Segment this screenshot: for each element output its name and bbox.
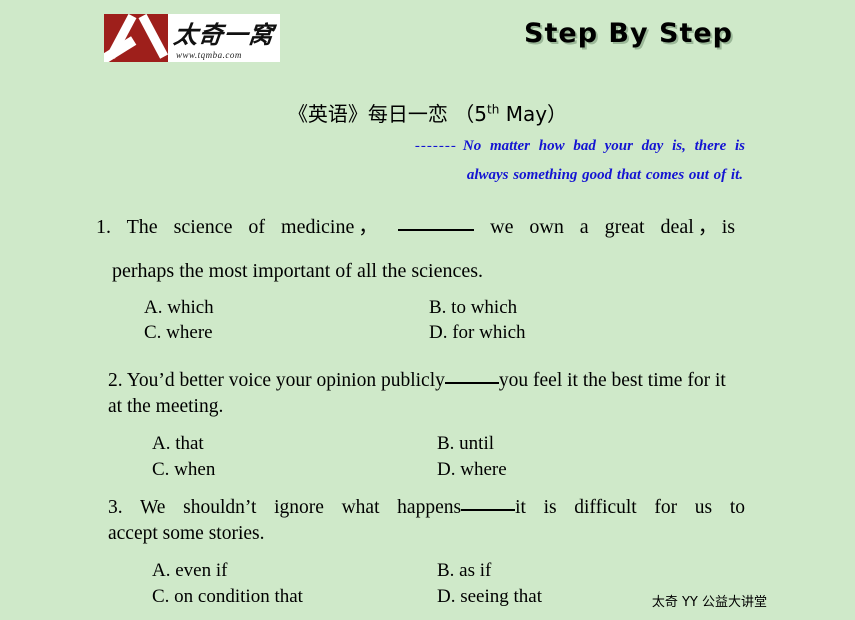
question-2-option-c[interactable]: C. when (152, 457, 437, 482)
question-3-option-a[interactable]: A. even if (152, 558, 437, 583)
quote-text-1: No matter how bad your day is, there is (463, 138, 745, 154)
question-3-blank[interactable] (461, 509, 515, 511)
question-2-stem: 2. You’d better voice your opinion publi… (0, 368, 855, 419)
brand-logo: 太奇一窝 www.tqmba.com (104, 14, 280, 62)
question-1-option-c[interactable]: C. where (144, 320, 429, 345)
title-suffix: May） (499, 102, 567, 126)
footer-credit: 太奇 YY 公益大讲堂 (652, 591, 767, 610)
question-2-option-a[interactable]: A. that (152, 431, 437, 456)
logo-chinese-name: 太奇一窝 (172, 15, 276, 50)
question-1-number: 1. (96, 216, 111, 238)
logo-text-block: 太奇一窝 www.tqmba.com (168, 14, 280, 62)
question-3-stem-line-1: 3. We shouldn’t ignore what happensit is… (108, 495, 745, 521)
question-3-stem: 3. We shouldn’t ignore what happensit is… (0, 495, 855, 546)
question-1-blank[interactable] (398, 229, 474, 231)
question-3-stem-line-2: accept some stories. (108, 523, 265, 544)
question-1-option-d[interactable]: D. for which (429, 320, 855, 345)
question-3-option-b[interactable]: B. as if (437, 558, 855, 583)
question-1-stem-part-2: we own a great deal，is (490, 216, 735, 238)
question-2-blank[interactable] (445, 382, 499, 384)
title-ordinal-superscript: th (487, 102, 499, 116)
page-title: 《英语》每日一恋 （5th May） (0, 98, 855, 127)
question-1-option-a[interactable]: A. which (144, 295, 429, 320)
question-2-stem-before: 2. You’d better voice your opinion publi… (108, 370, 445, 391)
banner-title: Step By Step (524, 18, 733, 49)
quote-line-1: -------No matter how bad your day is, th… (0, 138, 855, 155)
question-1-options: A. which B. to which C. where D. for whi… (0, 295, 855, 346)
question-1-stem-line-2: perhaps the most important of all the sc… (0, 260, 855, 283)
daily-quote: -------No matter how bad your day is, th… (0, 138, 855, 184)
logo-website-url: www.tqmba.com (176, 50, 242, 60)
question-2-options-row-2: C. when D. where (152, 457, 855, 482)
quote-dashes: ------- (415, 138, 457, 154)
question-2-options: A. that B. until C. when D. where (0, 431, 855, 482)
question-3-option-d[interactable]: D. seeing that (437, 584, 855, 609)
question-1: 1. The science of medicine， we own a gre… (0, 210, 855, 346)
question-2-option-d[interactable]: D. where (437, 457, 855, 482)
question-1-options-row-2: C. where D. for which (144, 320, 855, 345)
question-3-option-c[interactable]: C. on condition that (152, 584, 437, 609)
title-prefix: 《英语》每日一恋 （5 (288, 102, 487, 126)
question-2-option-b[interactable]: B. until (437, 431, 855, 456)
question-1-options-row-1: A. which B. to which (144, 295, 855, 320)
question-3-options-row-1: A. even if B. as if (152, 558, 855, 583)
question-1-stem-line-1: 1. The science of medicine， we own a gre… (0, 210, 855, 239)
slide-canvas: 太奇一窝 www.tqmba.com Step By Step 《英语》每日一恋… (0, 0, 855, 620)
question-1-option-b[interactable]: B. to which (429, 295, 855, 320)
question-2: 2. You’d better voice your opinion publi… (0, 368, 855, 482)
question-3-stem-before: 3. We shouldn’t ignore what happens (108, 497, 461, 518)
question-2-options-row-1: A. that B. until (152, 431, 855, 456)
question-3-stem-after: it is difficult for us to (515, 497, 745, 518)
quote-line-2: always something good that comes out of … (0, 167, 855, 184)
question-1-stem-part-1: The science of medicine， (127, 216, 383, 238)
person-character-logo-icon (104, 14, 168, 62)
